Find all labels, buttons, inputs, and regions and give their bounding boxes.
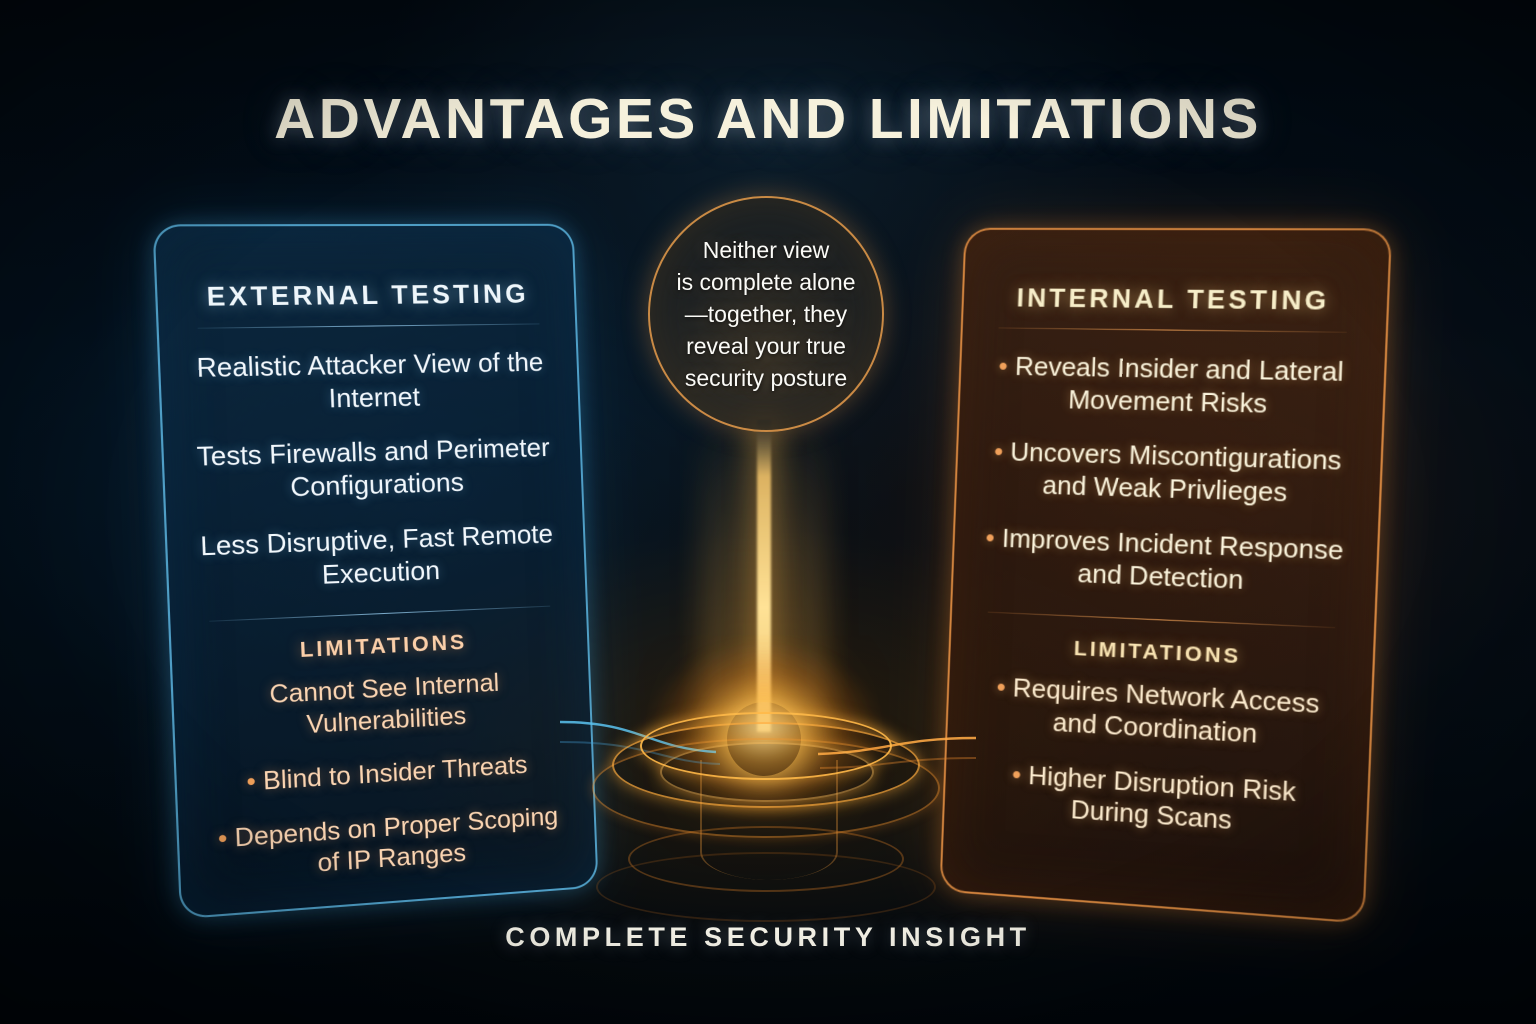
list-item: • Requires Network Access and Coordinati… (977, 671, 1339, 756)
list-item-label: Requires Network Access and Coordination (1012, 673, 1320, 749)
circle-line: is complete alone (677, 266, 856, 298)
external-limitations-heading: LIMITATIONS (204, 627, 558, 669)
bullet-icon: • (985, 522, 995, 552)
list-item-label: Improves Incident Response and Detection (1001, 523, 1344, 595)
infographic-canvas: ADVANTAGES AND LIMITATIONS EXTERNAL TEST… (0, 0, 1536, 1024)
bullet-icon: • (1011, 759, 1021, 790)
list-item-label: Depends on Proper Scoping of IP Ranges (234, 802, 558, 878)
internal-advantages-list: • Reveals Insider and Lateral Movement R… (983, 350, 1353, 600)
internal-panel-heading: INTERNAL TESTING (993, 282, 1355, 317)
circle-line: Neither view (677, 234, 856, 266)
core-sphere (727, 702, 801, 776)
list-item: • Depends on Proper Scoping of IP Ranges (211, 800, 566, 887)
external-limitations-divider (209, 606, 550, 622)
bullet-icon: • (246, 767, 256, 797)
bullet-icon: • (993, 436, 1003, 466)
circle-line: security posture (677, 362, 856, 394)
external-testing-panel: EXTERNAL TESTING Realistic Attacker View… (152, 224, 598, 920)
center-insight-circle: Neither view is complete alone —together… (648, 196, 884, 432)
internal-testing-panel: INTERNAL TESTING • Reveals Insider and L… (939, 228, 1392, 924)
core-ripple-2 (596, 852, 936, 922)
list-item: • Uncovers Miscontigurations and Weak Pr… (986, 436, 1349, 511)
center-insight-text: Neither view is complete alone —together… (663, 234, 870, 395)
list-item: • Blind to Insider Threats (209, 748, 563, 801)
internal-panel-content: INTERNAL TESTING • Reveals Insider and L… (941, 230, 1389, 922)
external-heading-divider (198, 323, 540, 328)
internal-limitations-divider (988, 612, 1335, 629)
external-limitations-list: Cannot See Internal Vulnerabilities • Bl… (205, 665, 566, 888)
circle-line: —together, they (677, 298, 856, 330)
internal-heading-divider (999, 327, 1347, 332)
list-item: • Higher Disruption Risk During Scans (974, 756, 1336, 844)
circle-line: reveal your true (677, 330, 856, 362)
list-item-label: Higher Disruption Risk During Scans (1028, 760, 1297, 836)
internal-limitations-heading: LIMITATIONS (980, 633, 1341, 675)
list-item-label: Blind to Insider Threats (263, 751, 528, 796)
page-title: ADVANTAGES AND LIMITATIONS (0, 86, 1536, 152)
bullet-icon: • (996, 672, 1006, 703)
bullet-icon: • (998, 351, 1008, 381)
list-item: Tests Firewalls and Perimeter Configurat… (196, 432, 552, 507)
list-item: • Improves Incident Response and Detecti… (983, 522, 1346, 601)
external-advantages-list: Realistic Attacker View of the Internet … (192, 346, 555, 596)
list-item: • Reveals Insider and Lateral Movement R… (989, 350, 1352, 422)
list-item: Less Disruptive, Fast Remote Execution (199, 518, 555, 596)
list-item-label: Uncovers Miscontigurations and Weak Priv… (1010, 437, 1342, 508)
bullet-icon: • (217, 824, 228, 854)
external-panel-heading: EXTERNAL TESTING (189, 278, 545, 313)
footer-caption: COMPLETE SECURITY INSIGHT (0, 922, 1536, 953)
list-item: Realistic Attacker View of the Internet (192, 346, 549, 418)
list-item-label: Reveals Insider and Lateral Movement Ris… (1014, 351, 1344, 419)
list-item: Cannot See Internal Vulnerabilities (205, 665, 561, 747)
internal-limitations-list: • Requires Network Access and Coordinati… (974, 671, 1339, 845)
external-panel-content: EXTERNAL TESTING Realistic Attacker View… (155, 226, 597, 917)
